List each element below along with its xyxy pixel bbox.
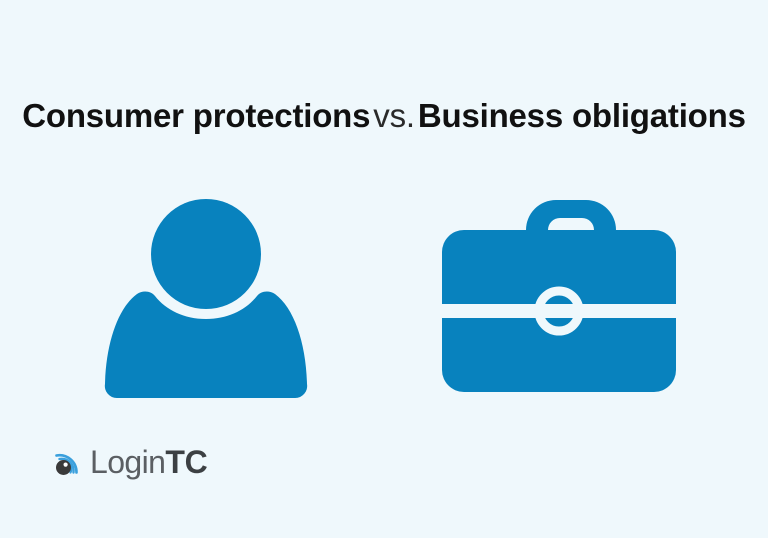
- logintc-signal-icon: [52, 446, 84, 478]
- briefcase-divider-gap: [434, 304, 684, 318]
- briefcase-handle-shape: [526, 200, 616, 234]
- person-icon: [100, 192, 316, 402]
- signal-dot: [56, 460, 71, 475]
- page-title-part-left: Consumer protections: [22, 97, 370, 134]
- logintc-logo: LoginTC: [52, 440, 208, 484]
- briefcase-icon: [434, 192, 684, 402]
- page-title-separator: vs.: [370, 97, 418, 134]
- slide-canvas: Consumer protectionsvs.Business obligati…: [0, 0, 768, 538]
- logo-word-tc: TC: [165, 444, 207, 480]
- person-head-shape: [151, 199, 261, 309]
- page-title-part-right: Business obligations: [418, 97, 746, 134]
- logo-word-login: Login: [90, 444, 165, 480]
- logintc-wordmark: LoginTC: [90, 445, 208, 479]
- page-title: Consumer protectionsvs.Business obligati…: [0, 96, 768, 136]
- signal-dot-highlight: [64, 463, 68, 467]
